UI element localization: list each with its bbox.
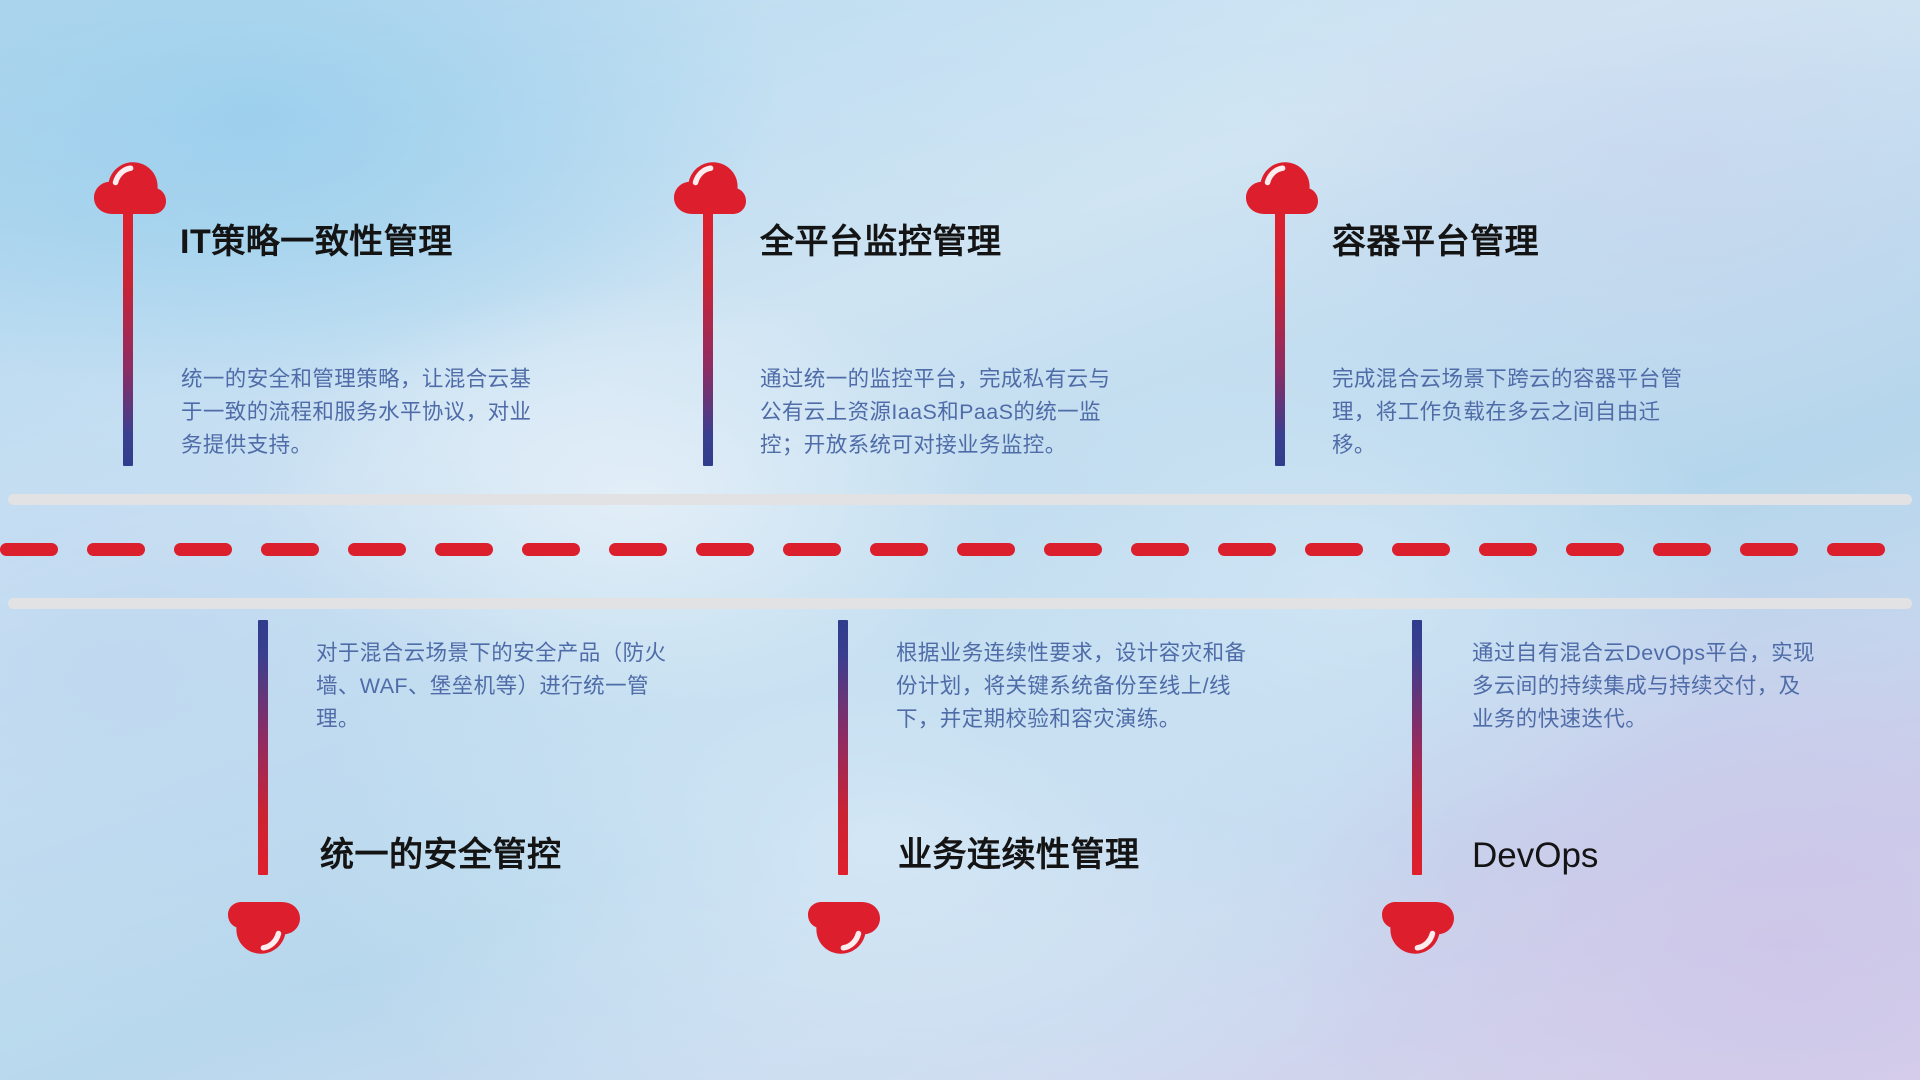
solid-rule-top xyxy=(8,494,1912,505)
cloud-icon xyxy=(806,900,882,956)
dash-segment xyxy=(696,543,754,556)
solid-rule-bottom xyxy=(8,598,1912,609)
card-body-devops: 通过自有混合云DevOps平台，实现多云间的持续集成与持续交付，及业务的快速迭代… xyxy=(1472,637,1822,736)
card-heading-security: 统一的安全管控 xyxy=(320,838,562,872)
card-body-continuity: 根据业务连续性要求，设计容灾和备份计划，将关键系统备份至线上/线下，并定期校验和… xyxy=(896,637,1252,736)
dash-segment xyxy=(1479,543,1537,556)
card-body-it-policy: 统一的安全和管理策略，让混合云基于一致的流程和服务水平协议，对业务提供支持。 xyxy=(181,363,533,462)
connector-stem xyxy=(258,620,268,875)
card-heading-container: 容器平台管理 xyxy=(1332,225,1539,259)
card-heading-devops: DevOps xyxy=(1472,838,1598,873)
card-heading-it-policy: IT策略一致性管理 xyxy=(180,225,453,259)
cloud-icon xyxy=(1380,900,1456,956)
card-body-container: 完成混合云场景下跨云的容器平台管理，将工作负载在多云之间自由迁移。 xyxy=(1332,363,1692,462)
dash-segment xyxy=(1218,543,1276,556)
dash-segment xyxy=(1827,543,1885,556)
dash-segment xyxy=(609,543,667,556)
cloud-icon xyxy=(226,900,302,956)
dash-segment xyxy=(1044,543,1102,556)
dash-segment xyxy=(1131,543,1189,556)
infographic-canvas: IT策略一致性管理 统一的安全和管理策略，让混合云基于一致的流程和服务水平协议，… xyxy=(0,0,1920,1080)
dash-segment xyxy=(435,543,493,556)
card-heading-continuity: 业务连续性管理 xyxy=(898,838,1140,872)
dash-segment xyxy=(522,543,580,556)
dash-segment xyxy=(1653,543,1711,556)
connector-stem xyxy=(1412,620,1422,875)
dash-segment xyxy=(1305,543,1363,556)
connector-stem xyxy=(703,208,713,466)
dash-segment xyxy=(87,543,145,556)
dash-segment xyxy=(957,543,1015,556)
card-body-security: 对于混合云场景下的安全产品（防火墙、WAF、堡垒机等）进行统一管理。 xyxy=(316,637,668,736)
connector-stem xyxy=(1275,208,1285,466)
dash-segment xyxy=(1566,543,1624,556)
card-body-monitoring: 通过统一的监控平台，完成私有云与公有云上资源IaaS和PaaS的统一监控；开放系… xyxy=(760,363,1116,462)
dash-segment xyxy=(0,543,58,556)
dashed-rule xyxy=(0,543,1920,556)
dash-segment xyxy=(261,543,319,556)
card-heading-monitoring: 全平台监控管理 xyxy=(760,225,1002,259)
dash-segment xyxy=(783,543,841,556)
connector-stem xyxy=(838,620,848,875)
connector-stem xyxy=(123,208,133,466)
dash-segment xyxy=(870,543,928,556)
dash-segment xyxy=(174,543,232,556)
dash-segment xyxy=(348,543,406,556)
dash-segment xyxy=(1740,543,1798,556)
dash-segment xyxy=(1392,543,1450,556)
